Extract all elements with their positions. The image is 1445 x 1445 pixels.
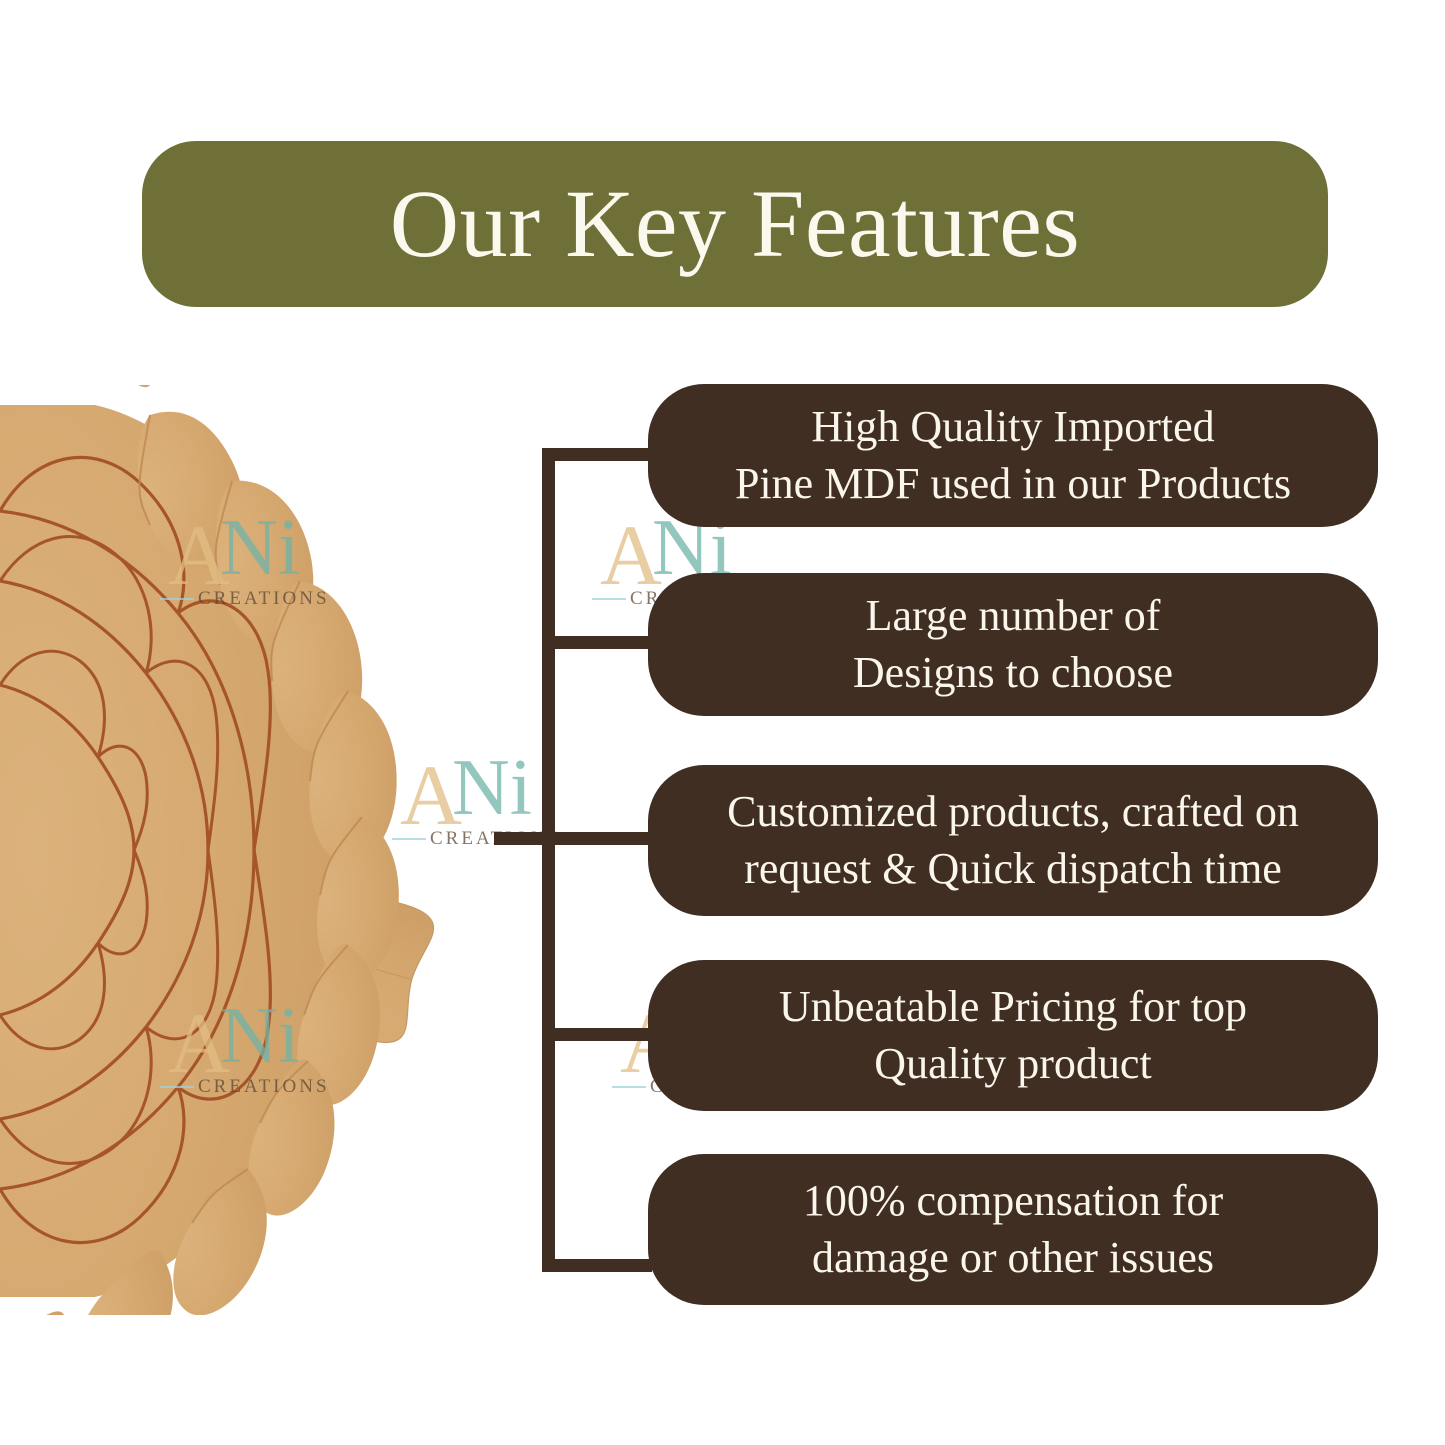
feature-line: damage or other issues xyxy=(812,1230,1214,1286)
connector-branch-2 xyxy=(542,636,652,649)
feature-line: 100% compensation for xyxy=(803,1173,1223,1229)
mdf-mandala-artwork xyxy=(0,385,520,1315)
feature-box-compensation-for-damage[interactable]: 100% compensation for damage or other is… xyxy=(648,1154,1378,1305)
feature-line: Large number of xyxy=(866,588,1161,644)
connector-trunk xyxy=(542,448,555,1272)
feature-line: Unbeatable Pricing for top xyxy=(779,979,1247,1035)
infographic-canvas: Our Key Features xyxy=(0,0,1445,1445)
feature-box-customized-products-quick-dispatch[interactable]: Customized products, crafted on request … xyxy=(648,765,1378,916)
connector-branch-1 xyxy=(542,448,652,461)
feature-line: Designs to choose xyxy=(853,645,1173,701)
feature-line: Customized products, crafted on xyxy=(727,784,1299,840)
feature-line: request & Quick dispatch time xyxy=(744,841,1282,897)
feature-line: Pine MDF used in our Products xyxy=(735,456,1291,512)
feature-line: Quality product xyxy=(874,1036,1151,1092)
feature-line: High Quality Imported xyxy=(811,399,1214,455)
mandala-outer-petals xyxy=(0,385,438,1315)
connector-branch-4 xyxy=(542,1028,652,1041)
feature-box-large-number-of-designs[interactable]: Large number of Designs to choose xyxy=(648,573,1378,716)
connector-branch-5 xyxy=(542,1259,652,1272)
mandala-svg xyxy=(0,385,520,1315)
feature-box-high-quality-imported-pine-mdf[interactable]: High Quality Imported Pine MDF used in o… xyxy=(648,384,1378,527)
page-title-banner: Our Key Features xyxy=(142,141,1328,307)
page-title: Our Key Features xyxy=(390,176,1080,272)
feature-box-unbeatable-pricing[interactable]: Unbeatable Pricing for top Quality produ… xyxy=(648,960,1378,1111)
mandala-body xyxy=(0,385,438,1315)
connector-branch-3 xyxy=(494,832,652,845)
